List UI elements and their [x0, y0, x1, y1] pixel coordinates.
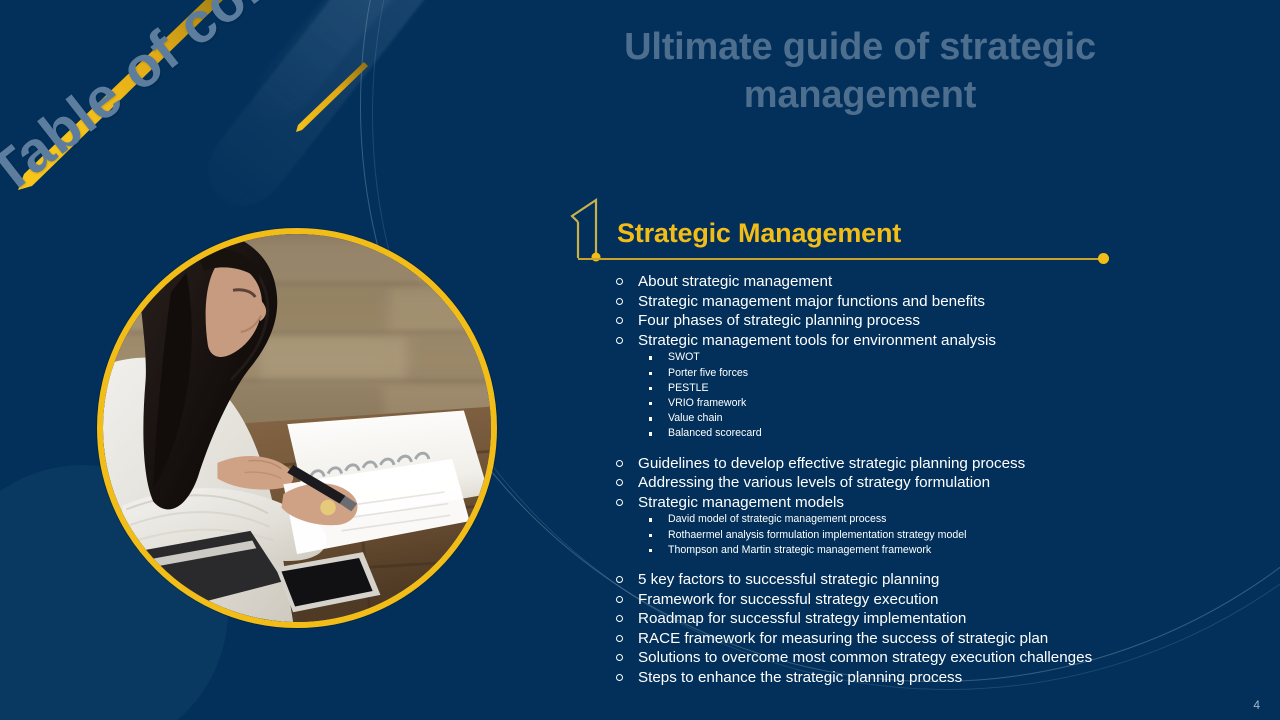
table-of-contents-list: About strategic managementStrategic mana… — [612, 272, 1182, 688]
toc-subitem[interactable]: Porter five forces — [640, 366, 1182, 381]
toc-item[interactable]: About strategic management — [612, 272, 1182, 292]
avatar — [103, 234, 491, 622]
toc-item[interactable]: Guidelines to develop effective strategi… — [612, 454, 1182, 474]
presentation-slide: Table of contents — [0, 0, 1280, 720]
toc-item[interactable]: Framework for successful strategy execut… — [612, 590, 1182, 610]
toc-item[interactable]: Strategic management tools for environme… — [612, 331, 1182, 351]
page-number: 4 — [1253, 698, 1260, 712]
section-strategic-management: Strategic Management About strategic man… — [560, 196, 1180, 270]
section-underline-end-dot — [1098, 253, 1109, 264]
section-underline — [578, 258, 1102, 260]
circular-photo-frame — [97, 228, 497, 628]
section-title: Strategic Management — [617, 218, 901, 249]
toc-subitem[interactable]: Balanced scorecard — [640, 426, 1182, 441]
toc-subitem[interactable]: PESTLE — [640, 381, 1182, 396]
toc-item[interactable]: Strategic management major functions and… — [612, 292, 1182, 312]
toc-sublist: SWOTPorter five forcesPESTLEVRIO framewo… — [640, 350, 1182, 441]
toc-subitem[interactable]: David model of strategic management proc… — [640, 512, 1182, 527]
toc-sublist: David model of strategic management proc… — [640, 512, 1182, 558]
section-header: Strategic Management — [560, 196, 1180, 270]
toc-root-list: About strategic managementStrategic mana… — [612, 272, 1182, 688]
toc-item[interactable]: Addressing the various levels of strateg… — [612, 473, 1182, 493]
list-group-gap — [612, 442, 1182, 454]
toc-subitem[interactable]: Value chain — [640, 411, 1182, 426]
toc-item[interactable]: Solutions to overcome most common strate… — [612, 648, 1182, 668]
yellow-streak-small-icon — [296, 62, 368, 134]
toc-subitem[interactable]: Thompson and Martin strategic management… — [640, 543, 1182, 558]
toc-item[interactable]: Strategic management models — [612, 493, 1182, 513]
toc-subitem[interactable]: Rothaermel analysis formulation implemen… — [640, 528, 1182, 543]
toc-item[interactable]: 5 key factors to successful strategic pl… — [612, 570, 1182, 590]
list-group-gap — [612, 558, 1182, 570]
toc-item[interactable]: RACE framework for measuring the success… — [612, 629, 1182, 649]
toc-item[interactable]: Four phases of strategic planning proces… — [612, 311, 1182, 331]
page-title: Ultimate guide of strategic management — [560, 24, 1160, 119]
toc-subitem[interactable]: SWOT — [640, 350, 1182, 365]
toc-item[interactable]: Roadmap for successful strategy implemen… — [612, 609, 1182, 629]
toc-subitem[interactable]: VRIO framework — [640, 396, 1182, 411]
toc-item[interactable]: Steps to enhance the strategic planning … — [612, 668, 1182, 688]
photo-woman-writing — [103, 234, 491, 622]
